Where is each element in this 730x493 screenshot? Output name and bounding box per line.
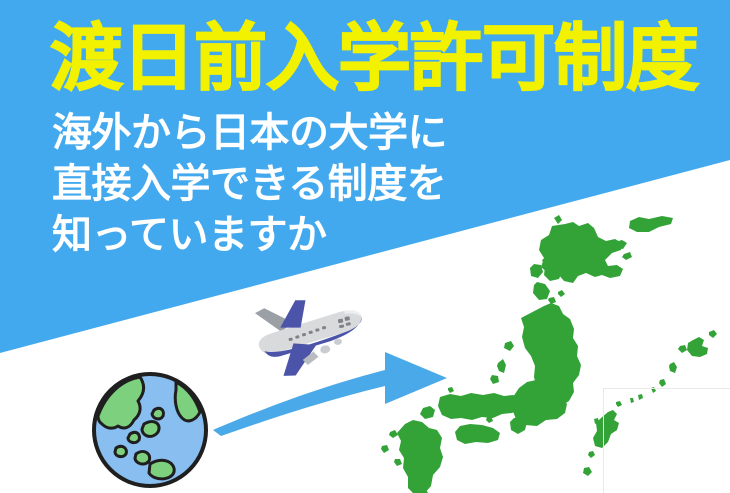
subtitle-block: 海外から日本の大学に 直接入学できる制度を 知っていますか (52, 108, 447, 261)
subtitle-line-1: 海外から日本の大学に (52, 108, 447, 159)
subtitle-line-3: 知っていますか (52, 210, 447, 261)
globe-showing-asia-australia-icon (88, 368, 212, 492)
subtitle-line-2: 直接入学できる制度を (52, 159, 447, 210)
poster-root: 渡日前入学許可制度 海外から日本の大学に 直接入学できる制度を 知っていますか (0, 0, 730, 493)
page-title: 渡日前入学許可制度 (50, 22, 698, 95)
